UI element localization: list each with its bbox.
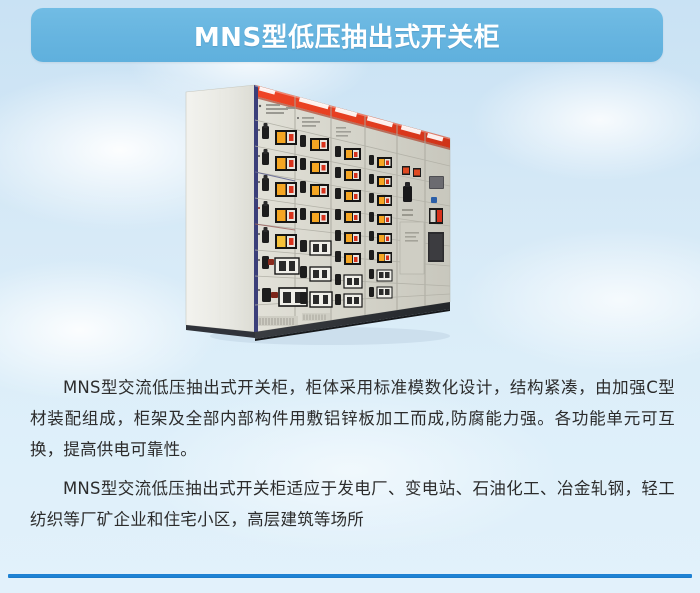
description-block: MNS型交流低压抽出式开关柜，柜体采用标准模数化设计，结构紧凑，由加强C型材装配… — [30, 372, 675, 535]
bottom-divider — [8, 574, 692, 578]
mns-switchgear-cabinet-photo — [150, 80, 550, 365]
description-paragraph-1: MNS型交流低压抽出式开关柜，柜体采用标准模数化设计，结构紧凑，由加强C型材装配… — [30, 372, 675, 465]
control-section — [428, 176, 444, 262]
drawer-units-col3 — [335, 127, 362, 307]
title-banner: MNS型低压抽出式开关柜 — [31, 8, 663, 62]
cabinet-illustration — [150, 80, 550, 365]
description-paragraph-2: MNS型交流低压抽出式开关柜适应于发电厂、变电站、石油化工、冶金轧钢，轻工纺织等… — [30, 473, 675, 535]
page-root: MNS型低压抽出式开关柜 — [0, 0, 700, 593]
page-title: MNS型低压抽出式开关柜 — [194, 17, 500, 54]
